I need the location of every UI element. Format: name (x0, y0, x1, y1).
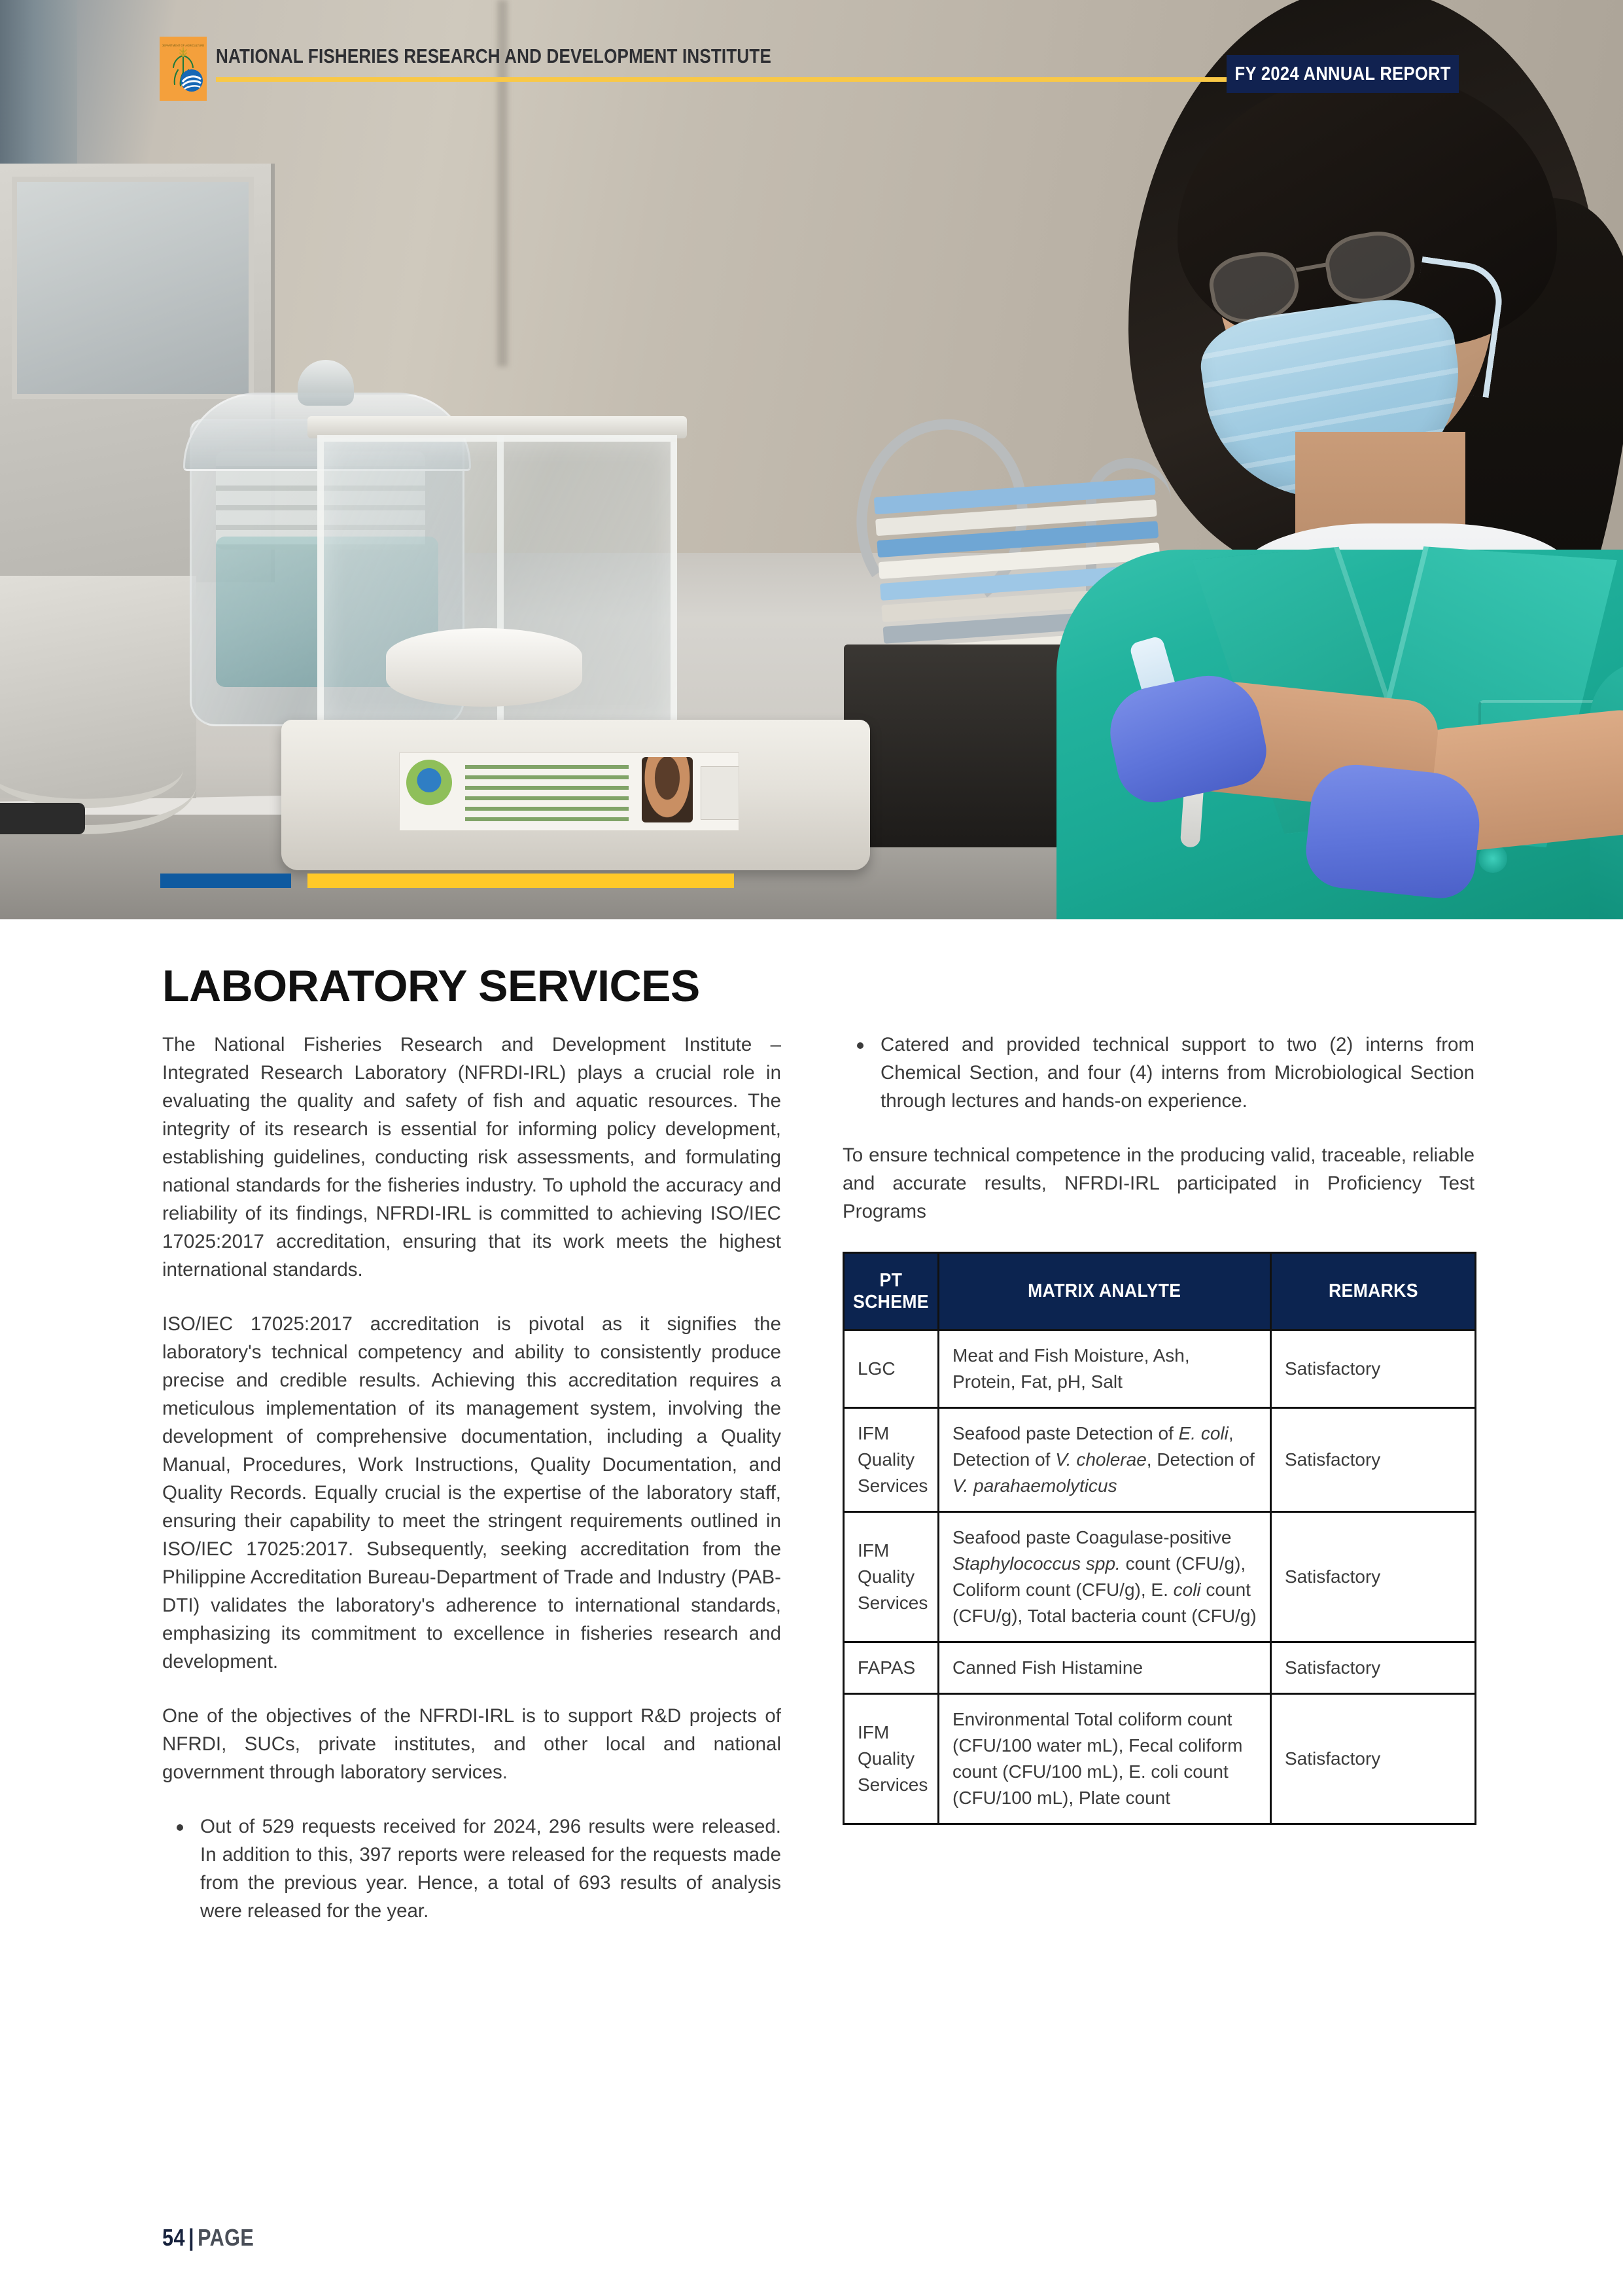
pt-table-head: PT SCHEME MATRIX ANALYTE REMARKS (844, 1253, 1476, 1330)
svg-text:DEPARTMENT OF AGRICULTURE: DEPARTMENT OF AGRICULTURE (162, 44, 204, 47)
paragraph-proficiency: To ensure technical competence in the pr… (843, 1141, 1475, 1226)
table-row: FAPASCanned Fish HistamineSatisfactory (844, 1642, 1476, 1694)
cell-pt-scheme: LGC (844, 1330, 939, 1408)
table-row: IFM Quality ServicesEnvironmental Total … (844, 1694, 1476, 1824)
cell-matrix-analyte: Environmental Total coliform count (CFU/… (939, 1694, 1271, 1824)
left-column: The National Fisheries Research and Deve… (162, 1031, 781, 1925)
cell-pt-scheme: IFM Quality Services (844, 1512, 939, 1642)
page-footer: 54|PAGE (162, 2224, 270, 2252)
cell-remarks: Satisfactory (1271, 1408, 1476, 1512)
table-header-row: PT SCHEME MATRIX ANALYTE REMARKS (844, 1253, 1476, 1330)
column-header-matrix-analyte: MATRIX ANALYTE (939, 1253, 1271, 1330)
cell-pt-scheme: FAPAS (844, 1642, 939, 1694)
hero-technician (1021, 0, 1623, 919)
left-bullet-list: Out of 529 requests received for 2024, 2… (162, 1812, 781, 1925)
hero-photo: DEPARTMENT OF AGRICULTURE NATIONAL FISHE… (0, 0, 1623, 919)
column-header-pt-scheme: PT SCHEME (844, 1253, 939, 1330)
page-header: DEPARTMENT OF AGRICULTURE NATIONAL FISHE… (0, 0, 1623, 124)
cell-matrix-analyte: Seafood paste Detection of E. coli, Dete… (939, 1408, 1271, 1512)
pt-scheme-table: PT SCHEME MATRIX ANALYTE REMARKS LGCMeat… (843, 1252, 1476, 1825)
cell-matrix-analyte: Meat and Fish Moisture, Ash, Protein, Fa… (939, 1330, 1271, 1408)
cell-matrix-analyte: Seafood paste Coagulase-positive Staphyl… (939, 1512, 1271, 1642)
footer-page-label: PAGE (198, 2224, 254, 2251)
org-name: NATIONAL FISHERIES RESEARCH AND DEVELOPM… (216, 44, 771, 68)
cell-remarks: Satisfactory (1271, 1512, 1476, 1642)
col-pt-line1: PT (880, 1270, 903, 1292)
hero-power-plug (0, 803, 85, 834)
right-bullet-list: Catered and provided technical support t… (843, 1031, 1475, 1115)
table-row: IFM Quality ServicesSeafood paste Detect… (844, 1408, 1476, 1512)
report-badge-label: FY 2024 ANNUAL REPORT (1234, 63, 1450, 85)
right-column: Catered and provided technical support t… (843, 1031, 1475, 1825)
list-item: Out of 529 requests received for 2024, 2… (162, 1812, 781, 1925)
cell-remarks: Satisfactory (1271, 1694, 1476, 1824)
col-pt-line2: SCHEME (853, 1292, 929, 1313)
footer-separator: | (188, 2224, 194, 2251)
annual-report-page: DEPARTMENT OF AGRICULTURE NATIONAL FISHE… (0, 0, 1623, 2296)
pt-table-body: LGCMeat and Fish Moisture, Ash, Protein,… (844, 1330, 1476, 1824)
page-content: LABORATORY SERVICES The National Fisheri… (0, 919, 1623, 2296)
cell-matrix-analyte: Canned Fish Histamine (939, 1642, 1271, 1694)
hero-analytical-balance (281, 406, 870, 870)
paragraph-accreditation: ISO/IEC 17025:2017 accreditation is pivo… (162, 1310, 781, 1676)
col-remarks-label: REMARKS (1329, 1280, 1418, 1302)
column-header-remarks: REMARKS (1271, 1253, 1476, 1330)
footer-page-number: 54 (162, 2224, 185, 2251)
hero-glove-right (1302, 760, 1484, 902)
header-accent-rule (216, 77, 1249, 82)
report-badge: FY 2024 ANNUAL REPORT (1227, 55, 1459, 93)
cell-remarks: Satisfactory (1271, 1642, 1476, 1694)
cell-remarks: Satisfactory (1271, 1330, 1476, 1408)
page-title: LABORATORY SERVICES (162, 961, 700, 1012)
table-row: IFM Quality ServicesSeafood paste Coagul… (844, 1512, 1476, 1642)
cell-pt-scheme: IFM Quality Services (844, 1408, 939, 1512)
accent-bar-blue (160, 874, 291, 888)
table-row: LGCMeat and Fish Moisture, Ash, Protein,… (844, 1330, 1476, 1408)
list-item: Catered and provided technical support t… (843, 1031, 1475, 1115)
paragraph-intro: The National Fisheries Research and Deve… (162, 1031, 781, 1284)
accent-bar-yellow (307, 874, 734, 888)
nfrdi-da-logo-icon: DEPARTMENT OF AGRICULTURE (160, 37, 207, 101)
cell-pt-scheme: IFM Quality Services (844, 1694, 939, 1824)
paragraph-objectives: One of the objectives of the NFRDI-IRL i… (162, 1702, 781, 1786)
col-matrix-label: MATRIX ANALYTE (1028, 1280, 1181, 1302)
